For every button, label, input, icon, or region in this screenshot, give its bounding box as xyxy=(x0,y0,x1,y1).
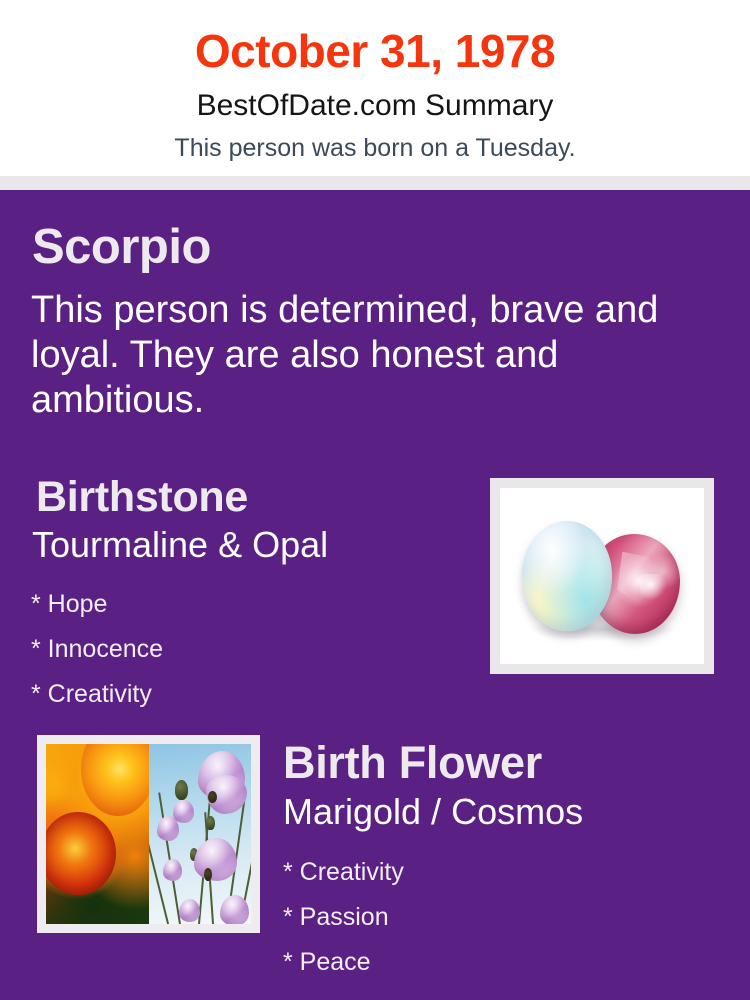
weekday-note: This person was born on a Tuesday. xyxy=(0,136,750,161)
zodiac-description: This person is determined, brave and loy… xyxy=(31,288,711,423)
flower-bud xyxy=(206,816,215,830)
content-panel: Scorpio This person is determined, brave… xyxy=(0,190,750,1000)
list-item: * Creativity xyxy=(31,672,163,717)
birth-flower-heading: Birth Flower xyxy=(283,740,542,785)
birth-flower-image xyxy=(46,744,251,924)
zodiac-sign-heading: Scorpio xyxy=(32,223,211,272)
opal-gem-icon xyxy=(522,521,612,630)
list-item: * Passion xyxy=(283,895,404,940)
cosmos-bloom xyxy=(163,859,182,881)
birthstone-image-frame xyxy=(490,478,714,674)
site-subtitle: BestOfDate.com Summary xyxy=(0,91,750,121)
birthstone-image xyxy=(500,488,704,664)
header-divider xyxy=(0,176,750,190)
list-item: * Creativity xyxy=(283,850,404,895)
birth-flower-traits-list: * Creativity * Passion * Peace xyxy=(283,850,404,985)
cosmos-bloom xyxy=(173,800,194,823)
cosmos-bloom xyxy=(194,838,237,881)
cosmos-bloom xyxy=(179,899,200,922)
marigold-photo-half xyxy=(46,744,149,924)
birthstone-heading: Birthstone xyxy=(36,476,248,519)
cosmos-photo-half xyxy=(149,744,252,924)
birth-flower-name: Marigold / Cosmos xyxy=(283,794,583,830)
birthstone-traits-list: * Hope * Innocence * Creativity xyxy=(31,582,163,717)
list-item: * Peace xyxy=(283,940,404,985)
list-item: * Hope xyxy=(31,582,163,627)
birth-flower-image-frame xyxy=(37,735,260,933)
flower-bud xyxy=(175,780,188,800)
header: October 31, 1978 BestOfDate.com Summary … xyxy=(0,0,750,176)
summary-infographic: October 31, 1978 BestOfDate.com Summary … xyxy=(0,0,750,1000)
cosmos-bloom xyxy=(220,895,249,924)
page-title: October 31, 1978 xyxy=(0,0,750,74)
list-item: * Innocence xyxy=(31,627,163,672)
cosmos-center xyxy=(204,868,212,881)
birthstone-name: Tourmaline & Opal xyxy=(32,527,328,563)
